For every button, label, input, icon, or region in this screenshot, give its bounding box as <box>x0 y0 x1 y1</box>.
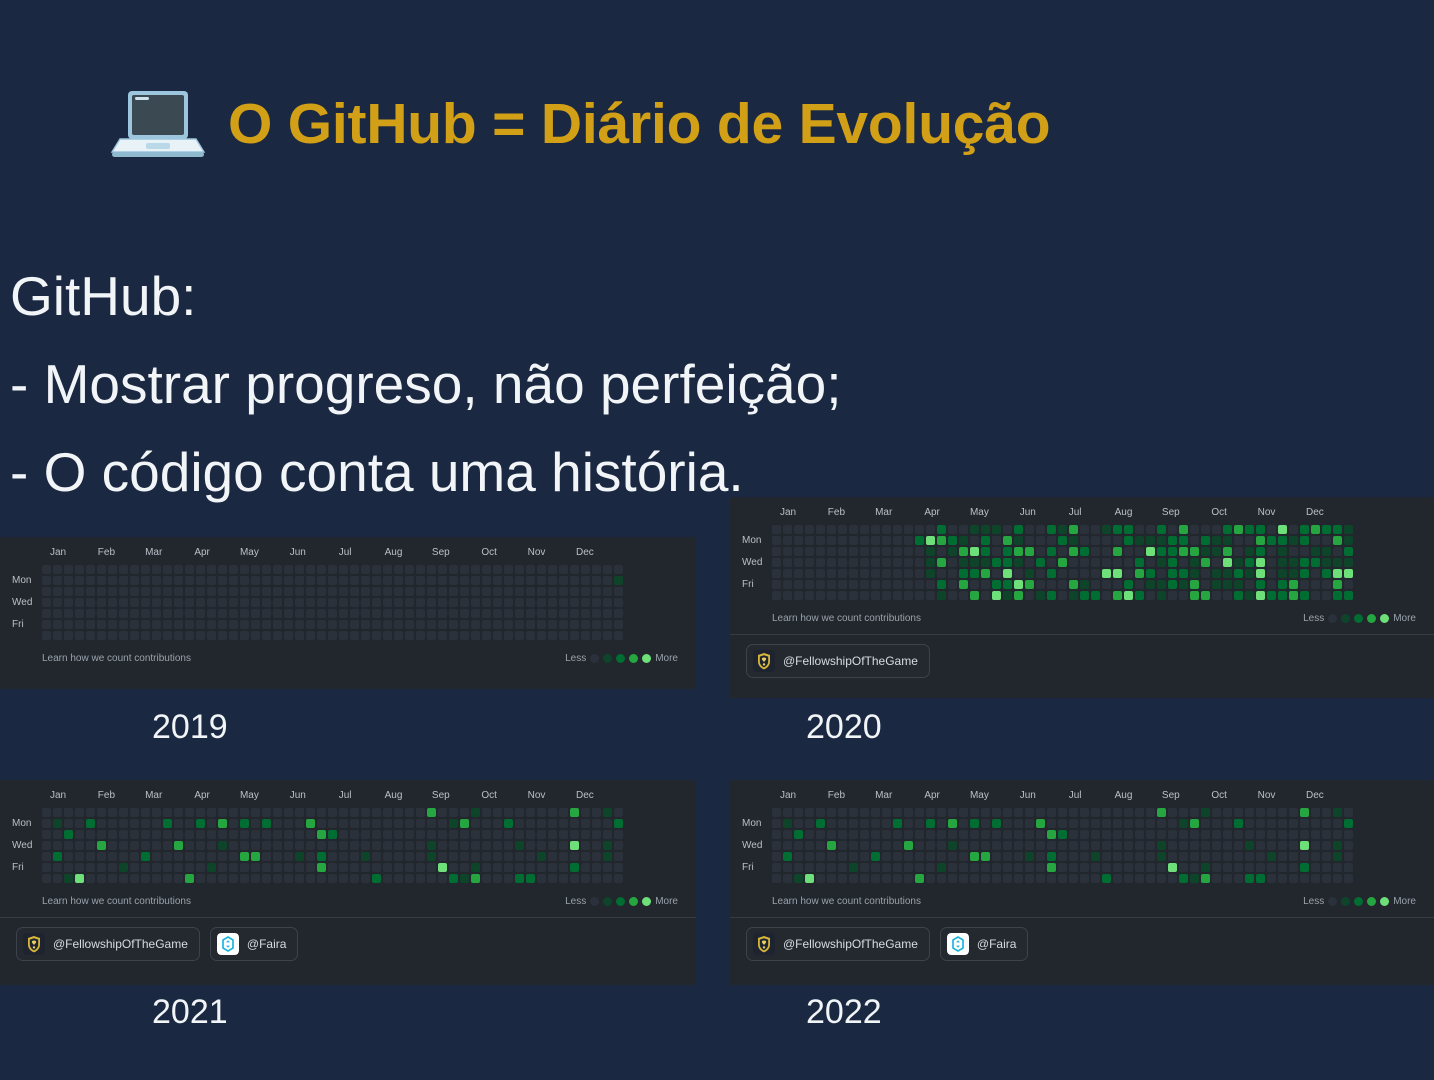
contribution-cell <box>772 841 781 850</box>
week-column <box>438 565 447 640</box>
week-column <box>1135 525 1144 600</box>
badge-faira[interactable]: @Faira <box>940 927 1029 961</box>
contribution-cell <box>860 525 869 534</box>
contribution-cell <box>284 631 293 640</box>
contribution-cell <box>1289 830 1298 839</box>
contribution-cell <box>526 565 535 574</box>
body-line-2: - Mostrar progreso, não perfeição; <box>10 340 842 428</box>
week-column <box>926 525 935 600</box>
week-column <box>416 565 425 640</box>
contribution-cell <box>948 558 957 567</box>
month-label-jun: Jun <box>1020 790 1036 801</box>
contribution-cell <box>1113 558 1122 567</box>
contribution-cell <box>537 587 546 596</box>
contribution-cell <box>515 863 524 872</box>
contribution-cell <box>1278 819 1287 828</box>
week-column <box>1036 808 1045 883</box>
week-column <box>174 808 183 883</box>
contribution-cell <box>86 841 95 850</box>
contribution-cell <box>339 609 348 618</box>
contribution-cell <box>1036 580 1045 589</box>
contribution-cell <box>592 841 601 850</box>
contribution-cell <box>42 841 51 850</box>
contribution-cell <box>1146 819 1155 828</box>
contribution-cell <box>306 587 315 596</box>
contribution-cell <box>339 830 348 839</box>
week-column <box>1245 808 1254 883</box>
contribution-cell <box>570 598 579 607</box>
contribution-cell <box>816 874 825 883</box>
contribution-cell <box>119 620 128 629</box>
contribution-cell <box>163 598 172 607</box>
month-label-oct: Oct <box>1211 507 1227 518</box>
contribution-cell <box>1047 863 1056 872</box>
contribution-cell <box>207 874 216 883</box>
contribution-cell <box>108 565 117 574</box>
contribution-cell <box>970 591 979 600</box>
week-column <box>1201 525 1210 600</box>
contribution-cell <box>1234 841 1243 850</box>
contribution-cell <box>97 863 106 872</box>
contribution-cell <box>1014 580 1023 589</box>
contribution-cell <box>915 874 924 883</box>
week-column <box>482 808 491 883</box>
contribution-cell <box>1080 591 1089 600</box>
contribution-cell <box>130 874 139 883</box>
contribution-cell <box>1025 874 1034 883</box>
contribution-cell <box>86 576 95 585</box>
contribution-cell <box>1212 841 1221 850</box>
week-column <box>64 808 73 883</box>
contribution-cell <box>75 819 84 828</box>
contribution-cell <box>64 863 73 872</box>
contribution-cell <box>860 591 869 600</box>
contribution-cell <box>893 536 902 545</box>
contribution-cell <box>328 830 337 839</box>
week-column <box>471 565 480 640</box>
contribution-cell <box>97 587 106 596</box>
contribution-cell <box>1256 547 1265 556</box>
contribution-cell <box>915 558 924 567</box>
day-label-column: MonWedFri <box>738 525 772 600</box>
contribution-cell <box>1322 874 1331 883</box>
week-column <box>805 808 814 883</box>
month-label-oct: Oct <box>481 547 497 558</box>
contribution-cell <box>471 841 480 850</box>
month-label-aug: Aug <box>385 790 403 801</box>
contribution-cell <box>152 587 161 596</box>
contribution-cell <box>970 874 979 883</box>
contribution-cell <box>493 609 502 618</box>
contribution-cell <box>537 609 546 618</box>
learn-how-we-count-contributions-link[interactable]: Learn how we count contributions <box>42 653 191 664</box>
badge-label: @FellowshipOfTheGame <box>783 937 918 951</box>
contribution-cell <box>1267 591 1276 600</box>
contribution-cell <box>849 830 858 839</box>
month-label-row: JanFebMarAprMayJunJulAugSepOctNovDec <box>42 547 688 563</box>
contribution-cell <box>816 558 825 567</box>
contribution-cell <box>152 598 161 607</box>
contribution-cell <box>570 808 579 817</box>
contribution-cell <box>42 609 51 618</box>
contribution-cell <box>981 808 990 817</box>
contribution-cell <box>64 841 73 850</box>
week-column <box>372 808 381 883</box>
contribution-cell <box>559 565 568 574</box>
contribution-cell <box>152 565 161 574</box>
contribution-cell <box>937 863 946 872</box>
contribution-cell <box>262 819 271 828</box>
contribution-cell <box>1168 808 1177 817</box>
contribution-cell <box>1245 547 1254 556</box>
contribution-cell <box>816 819 825 828</box>
week-column <box>130 808 139 883</box>
contribution-cell <box>1234 569 1243 578</box>
contribution-cell <box>849 852 858 861</box>
contribution-cell <box>783 525 792 534</box>
day-label-wed: Wed <box>12 840 32 851</box>
contribution-cell <box>394 609 403 618</box>
contribution-cell <box>1157 525 1166 534</box>
contribution-cell <box>262 565 271 574</box>
contribution-cell <box>548 609 557 618</box>
contribution-cell <box>794 569 803 578</box>
contribution-cell <box>1256 841 1265 850</box>
contribution-cell <box>926 808 935 817</box>
contribution-cell <box>174 587 183 596</box>
contribution-cell <box>64 830 73 839</box>
contribution-cell <box>1256 580 1265 589</box>
contribution-cell <box>970 852 979 861</box>
contribution-cell <box>882 580 891 589</box>
contribution-cell <box>1289 819 1298 828</box>
contribution-cell <box>185 808 194 817</box>
contribution-cell <box>1344 808 1353 817</box>
contribution-cell <box>1245 819 1254 828</box>
contribution-cell <box>592 808 601 817</box>
contribution-cell <box>537 576 546 585</box>
contribution-cell <box>559 819 568 828</box>
week-column <box>108 565 117 640</box>
contribution-cell <box>119 587 128 596</box>
contribution-cell <box>262 587 271 596</box>
contribution-cell-grid <box>772 808 1353 883</box>
contribution-cell <box>1058 863 1067 872</box>
contribution-cell <box>592 609 601 618</box>
contribution-cell <box>1091 852 1100 861</box>
contribution-cell <box>614 852 623 861</box>
month-label-jul: Jul <box>1069 507 1082 518</box>
contribution-cell <box>284 587 293 596</box>
contribution-cell <box>581 576 590 585</box>
contribution-cell <box>1025 547 1034 556</box>
legend-more-label: More <box>655 896 678 907</box>
contribution-cell <box>805 591 814 600</box>
contribution-cell <box>119 609 128 618</box>
contribution-cell <box>152 852 161 861</box>
hexagon-cyan-icon <box>947 933 969 955</box>
contribution-cell <box>1333 580 1342 589</box>
contribution-cell <box>361 620 370 629</box>
contribution-cell <box>1311 525 1320 534</box>
contribution-cell <box>372 565 381 574</box>
contribution-cell <box>937 591 946 600</box>
legend-swatch-level-0 <box>1328 614 1337 623</box>
week-column <box>1025 525 1034 600</box>
contribution-cell <box>1036 808 1045 817</box>
contribution-cell <box>805 525 814 534</box>
contribution-cell <box>1168 830 1177 839</box>
contribution-cell <box>937 525 946 534</box>
contribution-cell <box>328 620 337 629</box>
contribution-cell <box>1014 874 1023 883</box>
contribution-cell <box>1146 852 1155 861</box>
contribution-cell <box>229 598 238 607</box>
contribution-graph-2022: JanFebMarAprMayJunJulAugSepOctNovDecMonW… <box>730 780 1434 985</box>
contribution-cell <box>1113 808 1122 817</box>
contribution-cell <box>350 819 359 828</box>
contribution-cell <box>581 830 590 839</box>
contribution-cell <box>1201 591 1210 600</box>
contribution-cell <box>860 830 869 839</box>
contribution-cell <box>86 565 95 574</box>
contribution-cell <box>152 576 161 585</box>
contribution-cell <box>372 808 381 817</box>
contribution-cell <box>882 558 891 567</box>
month-label-jul: Jul <box>1069 790 1082 801</box>
week-column <box>460 808 469 883</box>
contribution-cell <box>383 609 392 618</box>
contribution-cell <box>361 576 370 585</box>
contribution-cell <box>992 830 1001 839</box>
contribution-cell <box>603 598 612 607</box>
contribution-cell <box>948 874 957 883</box>
contribution-cell <box>581 874 590 883</box>
contribution-cell <box>438 808 447 817</box>
contribution-cell <box>1289 863 1298 872</box>
contribution-cell <box>1278 830 1287 839</box>
contribution-cell <box>1289 852 1298 861</box>
contribution-cell <box>882 808 891 817</box>
week-column <box>904 808 913 883</box>
contribution-cell <box>904 808 913 817</box>
contribution-cell <box>915 830 924 839</box>
month-label-sep: Sep <box>432 790 450 801</box>
contribution-cell <box>350 598 359 607</box>
week-column <box>1190 525 1199 600</box>
learn-how-we-count-contributions-link[interactable]: Learn how we count contributions <box>42 896 191 907</box>
contribution-cell <box>559 587 568 596</box>
month-label-apr: Apr <box>924 790 940 801</box>
week-column <box>1091 525 1100 600</box>
legend-swatch-level-1 <box>1341 614 1350 623</box>
contribution-cell <box>1212 830 1221 839</box>
contribution-cell <box>295 852 304 861</box>
contribution-cell <box>185 852 194 861</box>
contribution-cell <box>405 576 414 585</box>
contribution-cell <box>1311 852 1320 861</box>
contribution-cell <box>141 598 150 607</box>
contribution-cell <box>570 852 579 861</box>
badge-fellowshipofthegame[interactable]: @FellowshipOfTheGame <box>746 927 930 961</box>
contribution-cell <box>262 808 271 817</box>
contribution-cell <box>64 598 73 607</box>
contribution-cell <box>1212 874 1221 883</box>
week-column <box>1278 808 1287 883</box>
badge-fellowshipofthegame[interactable]: @FellowshipOfTheGame <box>16 927 200 961</box>
contribution-cell <box>772 525 781 534</box>
contribution-cell <box>548 863 557 872</box>
legend-swatch-level-1 <box>603 897 612 906</box>
contribution-cell <box>394 808 403 817</box>
contribution-cell <box>1201 863 1210 872</box>
badge-faira[interactable]: @Faira <box>210 927 299 961</box>
contribution-cell <box>394 565 403 574</box>
contribution-cell <box>893 808 902 817</box>
month-label-sep: Sep <box>432 547 450 558</box>
contribution-cell <box>1333 863 1342 872</box>
contribution-cell <box>482 576 491 585</box>
contribution-cell <box>152 841 161 850</box>
contribution-cell <box>64 587 73 596</box>
contribution-cell <box>849 819 858 828</box>
contribution-cell <box>948 808 957 817</box>
contribution-cell <box>262 852 271 861</box>
contribution-cell <box>1179 536 1188 545</box>
contribution-cell <box>306 565 315 574</box>
contribution-legend: LessMore <box>1303 896 1416 907</box>
contribution-cell <box>1245 525 1254 534</box>
contribution-cell <box>783 874 792 883</box>
contribution-cell <box>893 874 902 883</box>
contribution-cell <box>1201 830 1210 839</box>
body-line-3: - O código conta uma história. <box>10 428 842 516</box>
contribution-cell <box>1113 830 1122 839</box>
contribution-cell <box>1300 558 1309 567</box>
contribution-cell <box>240 620 249 629</box>
contribution-cell <box>218 620 227 629</box>
learn-how-we-count-contributions-link[interactable]: Learn how we count contributions <box>772 613 921 624</box>
contribution-cell <box>1223 808 1232 817</box>
contribution-cell <box>317 808 326 817</box>
contribution-cell <box>196 565 205 574</box>
contribution-cell <box>992 841 1001 850</box>
contribution-cell <box>992 558 1001 567</box>
contribution-cell <box>449 874 458 883</box>
contribution-cell <box>871 569 880 578</box>
contribution-cell <box>1168 558 1177 567</box>
contribution-cell <box>882 819 891 828</box>
contribution-cell <box>904 580 913 589</box>
week-column <box>427 808 436 883</box>
contribution-cell <box>130 631 139 640</box>
contribution-cell <box>816 591 825 600</box>
week-column <box>317 565 326 640</box>
contribution-cell <box>1223 558 1232 567</box>
contribution-cell <box>207 852 216 861</box>
contribution-cell <box>185 830 194 839</box>
contribution-cell <box>284 598 293 607</box>
week-column <box>53 808 62 883</box>
week-column <box>816 525 825 600</box>
contribution-cell <box>108 808 117 817</box>
contribution-cell <box>317 874 326 883</box>
contribution-cell <box>273 841 282 850</box>
week-column <box>339 808 348 883</box>
contribution-cell <box>1311 863 1320 872</box>
contribution-cell <box>794 819 803 828</box>
contribution-cell <box>915 591 924 600</box>
calendar-footer: Learn how we count contributionsLessMore <box>8 889 688 913</box>
week-column <box>915 525 924 600</box>
badge-fellowshipofthegame[interactable]: @FellowshipOfTheGame <box>746 644 930 678</box>
contribution-cell <box>185 819 194 828</box>
contribution-cell <box>548 841 557 850</box>
week-column <box>185 808 194 883</box>
legend-less-label: Less <box>1303 613 1324 624</box>
contribution-cell <box>1091 536 1100 545</box>
contribution-cell <box>1014 536 1023 545</box>
contribution-cell <box>383 808 392 817</box>
month-label-dec: Dec <box>1306 790 1324 801</box>
contribution-cell <box>1168 852 1177 861</box>
contribution-cell <box>1146 591 1155 600</box>
contribution-cell <box>1179 874 1188 883</box>
contribution-cell <box>515 841 524 850</box>
week-column <box>893 808 902 883</box>
contribution-cell <box>229 587 238 596</box>
contribution-cell <box>295 631 304 640</box>
contribution-cell <box>1322 863 1331 872</box>
contribution-cell <box>273 874 282 883</box>
contribution-cell <box>794 547 803 556</box>
week-column <box>548 808 557 883</box>
contribution-cell <box>152 819 161 828</box>
contribution-cell <box>471 609 480 618</box>
month-label-aug: Aug <box>385 547 403 558</box>
contribution-cell <box>240 808 249 817</box>
contribution-cell <box>1146 558 1155 567</box>
contribution-cell <box>328 863 337 872</box>
week-column <box>306 808 315 883</box>
contribution-cell <box>614 819 623 828</box>
week-column <box>1344 808 1353 883</box>
contribution-cell <box>339 620 348 629</box>
contribution-cell <box>1300 863 1309 872</box>
contribution-cell <box>284 609 293 618</box>
week-column <box>262 808 271 883</box>
week-column <box>1278 525 1287 600</box>
learn-how-we-count-contributions-link[interactable]: Learn how we count contributions <box>772 896 921 907</box>
contribution-cell <box>207 808 216 817</box>
contribution-cell <box>1223 536 1232 545</box>
contribution-cell <box>306 819 315 828</box>
contribution-cell <box>526 830 535 839</box>
contribution-cell <box>394 863 403 872</box>
contribution-cell <box>783 830 792 839</box>
week-column <box>1311 525 1320 600</box>
contribution-cell <box>471 819 480 828</box>
contribution-cell <box>152 874 161 883</box>
contribution-cell <box>1058 852 1067 861</box>
contribution-cell <box>1168 525 1177 534</box>
contribution-cell <box>482 830 491 839</box>
contribution-cell <box>570 631 579 640</box>
contribution-cell <box>383 874 392 883</box>
contribution-cell <box>559 576 568 585</box>
month-label-jun: Jun <box>290 547 306 558</box>
contribution-cell <box>438 852 447 861</box>
